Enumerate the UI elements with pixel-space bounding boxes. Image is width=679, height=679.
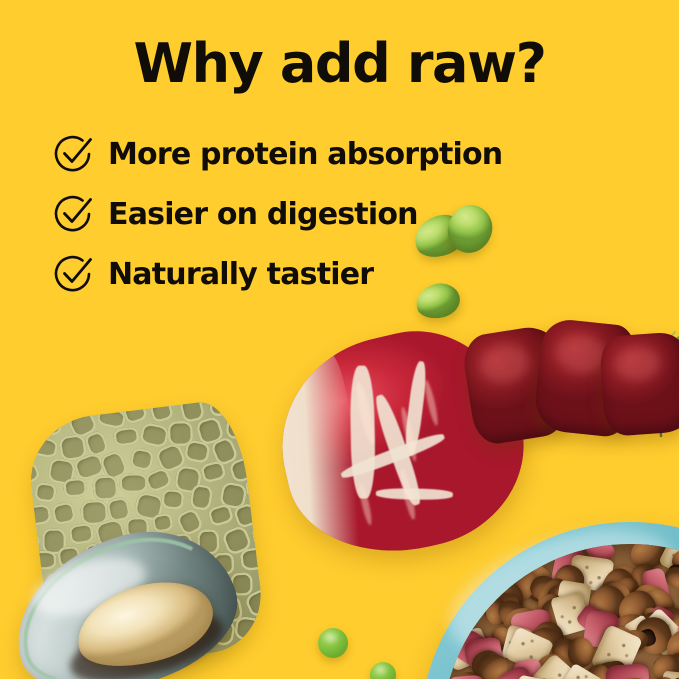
- liver-pieces: [599, 331, 679, 437]
- list-item: More protein absorption: [52, 126, 592, 182]
- benefit-list: More protein absorption Easier on digest…: [52, 126, 592, 306]
- benefit-label: Easier on digestion: [108, 197, 418, 232]
- check-circle-icon: [52, 192, 96, 236]
- list-item: Easier on digestion: [52, 186, 592, 242]
- benefit-label: Naturally tastier: [108, 257, 373, 292]
- benefit-label: More protein absorption: [108, 137, 502, 172]
- food-piece: [605, 663, 650, 679]
- promo-graphic: Why add raw? More protein absorption Eas…: [0, 0, 679, 679]
- list-item: Naturally tastier: [52, 246, 592, 302]
- food-composition: [0, 300, 679, 679]
- page-title: Why add raw?: [0, 36, 679, 93]
- food-bowl: [420, 522, 679, 679]
- check-circle-icon: [52, 252, 96, 296]
- check-circle-icon: [52, 132, 96, 176]
